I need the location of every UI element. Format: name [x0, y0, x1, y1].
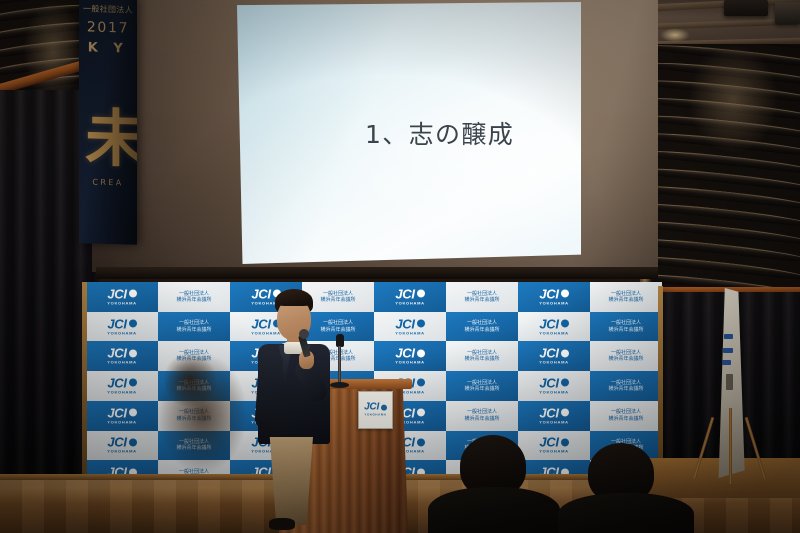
- backdrop-tile: 一般社団法人横浜青年会議所: [590, 371, 662, 401]
- backdrop-org-name: 一般社団法人横浜青年会議所: [176, 439, 211, 452]
- backdrop-org-name-line2: 横浜青年会議所: [608, 297, 643, 303]
- jci-logo-row: JCI: [107, 347, 136, 360]
- jci-pin-icon: [561, 409, 569, 417]
- jci-sub-text: YOKOHAMA: [539, 390, 569, 394]
- backdrop-tile: JCIYOKOHAMA: [518, 282, 590, 312]
- jci-brand-text: JCI: [539, 317, 558, 330]
- backdrop-org-name: 一般社団法人横浜青年会議所: [176, 380, 211, 393]
- podium-sign-brand: JCI: [364, 403, 379, 413]
- jci-pin-icon: [129, 290, 137, 298]
- backdrop-tile: 一般社団法人横浜青年会議所: [158, 401, 230, 431]
- jci-brand-text: JCI: [395, 317, 414, 330]
- ceremonial-flag: [700, 288, 762, 488]
- backdrop-org-name-line2: 横浜青年会議所: [176, 416, 211, 422]
- backdrop-tile: 一般社団法人横浜青年会議所: [590, 282, 662, 312]
- backdrop-tile: 一般社団法人横浜青年会議所: [446, 312, 518, 342]
- backdrop-tile: 一般社団法人横浜青年会議所: [590, 401, 662, 431]
- presentation-hall-photo: 1、志の醸成 一般社団法人 2017 K Y 未 CREA JCIYOKOHAM…: [0, 0, 800, 533]
- jci-pin-icon: [129, 409, 137, 417]
- jci-logo: JCIYOKOHAMA: [539, 406, 569, 424]
- jci-pin-icon: [129, 379, 137, 387]
- jci-pin-icon: [417, 379, 425, 387]
- podium-sign-logo-row: JCI: [364, 403, 387, 413]
- jci-brand-text: JCI: [395, 287, 414, 300]
- jci-logo-row: JCI: [107, 317, 136, 330]
- jci-brand-text: JCI: [539, 287, 558, 300]
- jci-sub-text: YOKOHAMA: [107, 420, 137, 424]
- jci-logo-row: JCI: [539, 406, 568, 419]
- backdrop-org-name-line2: 横浜青年会議所: [176, 297, 211, 303]
- jci-logo: JCIYOKOHAMA: [107, 436, 137, 454]
- backdrop-org-name-line2: 横浜青年会議所: [464, 356, 499, 362]
- backdrop-org-name: 一般社団法人横浜青年会議所: [608, 409, 643, 422]
- backdrop-org-name: 一般社団法人横浜青年会議所: [176, 350, 211, 363]
- jci-pin-icon: [417, 409, 425, 417]
- jci-sub-text: YOKOHAMA: [395, 361, 425, 365]
- backdrop-tile: JCIYOKOHAMA: [374, 312, 446, 342]
- jci-logo: JCIYOKOHAMA: [107, 376, 137, 394]
- podium-sign-pin-icon: [381, 405, 387, 411]
- jci-brand-text: JCI: [395, 347, 414, 360]
- jci-logo-row: JCI: [539, 317, 568, 330]
- flag-stand-pole: [729, 408, 732, 484]
- jci-brand-text: JCI: [539, 406, 558, 419]
- backdrop-tile: JCIYOKOHAMA: [518, 401, 590, 431]
- backdrop-tile: 一般社団法人横浜青年会議所: [446, 282, 518, 312]
- backdrop-org-name: 一般社団法人横浜青年会議所: [608, 380, 643, 393]
- flag-emblem-mark-3: [722, 360, 731, 365]
- backdrop-tile: 一般社団法人横浜青年会議所: [158, 431, 230, 461]
- backdrop-tile: 一般社団法人横浜青年会議所: [158, 312, 230, 342]
- jci-sub-text: YOKOHAMA: [539, 331, 569, 335]
- jci-pin-icon: [129, 349, 137, 357]
- backdrop-org-name-line2: 横浜青年会議所: [608, 386, 643, 392]
- backdrop-org-name-line2: 横浜青年会議所: [176, 445, 211, 451]
- backdrop-tile: JCIYOKOHAMA: [86, 341, 158, 371]
- jci-logo: JCIYOKOHAMA: [107, 347, 137, 365]
- backdrop-tile: 一般社団法人横浜青年会議所: [158, 341, 230, 371]
- jci-logo-row: JCI: [395, 317, 424, 330]
- jci-logo: JCIYOKOHAMA: [395, 287, 425, 305]
- jci-brand-text: JCI: [107, 317, 126, 330]
- backdrop-org-name-line2: 横浜青年会議所: [464, 416, 499, 422]
- audience-right-shoulders: [558, 493, 694, 533]
- audience-left-shoulders: [428, 487, 560, 533]
- jci-logo: JCIYOKOHAMA: [539, 376, 569, 394]
- jci-pin-icon: [417, 438, 425, 446]
- backdrop-tile: 一般社団法人横浜青年会議所: [158, 282, 230, 312]
- ceiling-downlight-1: [660, 28, 690, 42]
- backdrop-tile: JCIYOKOHAMA: [374, 282, 446, 312]
- ceiling-speaker-box: [775, 2, 800, 24]
- jci-brand-text: JCI: [107, 347, 126, 360]
- backdrop-tile: JCIYOKOHAMA: [86, 371, 158, 401]
- right-louver-slats: [652, 44, 800, 294]
- ceiling-projector-mount: [724, 0, 768, 16]
- jci-brand-text: JCI: [107, 406, 126, 419]
- backdrop-org-name: 一般社団法人横浜青年会議所: [176, 320, 211, 333]
- backdrop-org-name: 一般社団法人横浜青年会議所: [608, 320, 643, 333]
- speaker-trousers: [267, 437, 313, 525]
- backdrop-tile: JCIYOKOHAMA: [518, 371, 590, 401]
- backdrop-org-name: 一般社団法人横浜青年会議所: [608, 350, 643, 363]
- backdrop-org-name: 一般社団法人横浜青年会議所: [608, 291, 643, 304]
- jci-sub-text: YOKOHAMA: [395, 301, 425, 305]
- jci-logo-row: JCI: [395, 287, 424, 300]
- jci-logo: JCIYOKOHAMA: [395, 347, 425, 365]
- jci-brand-text: JCI: [539, 347, 558, 360]
- backdrop-tile: JCIYOKOHAMA: [86, 312, 158, 342]
- jci-pin-icon: [129, 320, 137, 328]
- jci-sub-text: YOKOHAMA: [539, 301, 569, 305]
- backdrop-tile: JCIYOKOHAMA: [518, 341, 590, 371]
- jci-logo: JCIYOKOHAMA: [107, 317, 137, 335]
- jci-logo: JCIYOKOHAMA: [539, 317, 569, 335]
- jci-logo: JCIYOKOHAMA: [395, 317, 425, 335]
- backdrop-org-name-line2: 横浜青年会議所: [608, 416, 643, 422]
- jci-logo-row: JCI: [107, 287, 136, 300]
- podium-jci-sign: JCI YOKOHAMA: [358, 391, 393, 429]
- jci-pin-icon: [561, 290, 569, 298]
- banner-shading: [79, 0, 137, 245]
- speaker-figure: [239, 289, 359, 533]
- backdrop-org-name-line2: 横浜青年会議所: [608, 356, 643, 362]
- jci-sub-text: YOKOHAMA: [107, 390, 137, 394]
- jci-logo-row: JCI: [395, 347, 424, 360]
- backdrop-tile: 一般社団法人横浜青年会議所: [446, 371, 518, 401]
- backdrop-tile: 一般社団法人横浜青年会議所: [446, 401, 518, 431]
- backdrop-org-name-line2: 横浜青年会議所: [464, 386, 499, 392]
- backdrop-org-name-line2: 横浜青年会議所: [176, 327, 211, 333]
- jci-logo-row: JCI: [107, 436, 136, 449]
- flag-emblem-mark-2: [723, 348, 733, 353]
- jci-sub-text: YOKOHAMA: [539, 361, 569, 365]
- jci-logo: JCIYOKOHAMA: [107, 406, 137, 424]
- backdrop-org-name: 一般社団法人横浜青年会議所: [176, 291, 211, 304]
- jci-brand-text: JCI: [107, 376, 126, 389]
- backdrop-org-name-line2: 横浜青年会議所: [464, 297, 499, 303]
- jci-logo-row: JCI: [539, 287, 568, 300]
- speaker-shoe: [269, 518, 295, 530]
- projection-screen: 1、志の醸成: [237, 2, 581, 264]
- backdrop-tile: 一般社団法人横浜青年会議所: [590, 312, 662, 342]
- backdrop-tile: 一般社団法人横浜青年会議所: [158, 371, 230, 401]
- jci-logo-row: JCI: [539, 376, 568, 389]
- event-vertical-banner: 一般社団法人 2017 K Y 未 CREA: [79, 0, 137, 245]
- backdrop-org-name-line2: 横浜青年会議所: [464, 327, 499, 333]
- jci-brand-text: JCI: [107, 287, 126, 300]
- backdrop-org-name-line2: 横浜青年会議所: [176, 356, 211, 362]
- jci-sub-text: YOKOHAMA: [107, 331, 137, 335]
- backdrop-org-name: 一般社団法人横浜青年会議所: [464, 320, 499, 333]
- jci-pin-icon: [129, 438, 137, 446]
- audience-member-left: [428, 435, 560, 533]
- jci-logo-row: JCI: [107, 376, 136, 389]
- backdrop-tile: JCIYOKOHAMA: [518, 312, 590, 342]
- jci-pin-icon: [561, 349, 569, 357]
- backdrop-org-name-line2: 横浜青年会議所: [608, 327, 643, 333]
- flag-emblem-mark-4: [726, 374, 733, 390]
- backdrop-org-name: 一般社団法人横浜青年会議所: [464, 409, 499, 422]
- podium-sign-sub: YOKOHAMA: [364, 414, 386, 417]
- jci-pin-icon: [561, 379, 569, 387]
- audience-member-right: [558, 443, 694, 533]
- backdrop-tile: 一般社団法人横浜青年会議所: [446, 341, 518, 371]
- backdrop-org-name-line2: 横浜青年会議所: [176, 386, 211, 392]
- backdrop-tile: JCIYOKOHAMA: [86, 431, 158, 461]
- flag-emblem-mark-1: [724, 334, 733, 339]
- right-louvered-wall: [652, 44, 800, 294]
- jci-logo: JCIYOKOHAMA: [539, 287, 569, 305]
- jci-logo-row: JCI: [107, 406, 136, 419]
- screen-bottom-bar: [96, 267, 658, 279]
- jci-logo: JCIYOKOHAMA: [539, 347, 569, 365]
- backdrop-left-post: [82, 282, 87, 488]
- jci-sub-text: YOKOHAMA: [107, 361, 137, 365]
- backdrop-tile: JCIYOKOHAMA: [86, 282, 158, 312]
- handheld-microphone-head: [299, 329, 309, 339]
- jci-sub-text: YOKOHAMA: [107, 450, 137, 454]
- backdrop-org-name: 一般社団法人横浜青年会議所: [464, 291, 499, 304]
- jci-sub-text: YOKOHAMA: [395, 331, 425, 335]
- jci-pin-icon: [417, 290, 425, 298]
- jci-pin-icon: [561, 320, 569, 328]
- backdrop-org-name: 一般社団法人横浜青年会議所: [464, 350, 499, 363]
- backdrop-org-name: 一般社団法人横浜青年会議所: [464, 380, 499, 393]
- jci-brand-text: JCI: [107, 436, 126, 449]
- backdrop-tile: JCIYOKOHAMA: [374, 341, 446, 371]
- jci-pin-icon: [417, 320, 425, 328]
- backdrop-tile: 一般社団法人横浜青年会議所: [590, 341, 662, 371]
- jci-sub-text: YOKOHAMA: [107, 301, 137, 305]
- jci-logo: JCIYOKOHAMA: [107, 287, 137, 305]
- jci-pin-icon: [417, 349, 425, 357]
- jci-sub-text: YOKOHAMA: [539, 420, 569, 424]
- backdrop-tile: JCIYOKOHAMA: [86, 401, 158, 431]
- podium-sign-logo: JCI YOKOHAMA: [364, 403, 387, 417]
- jci-logo-row: JCI: [539, 347, 568, 360]
- jci-brand-text: JCI: [539, 376, 558, 389]
- speaker-hair-front: [276, 291, 312, 306]
- backdrop-org-name: 一般社団法人横浜青年会議所: [176, 409, 211, 422]
- slide-title-text: 1、志の醸成: [365, 115, 514, 151]
